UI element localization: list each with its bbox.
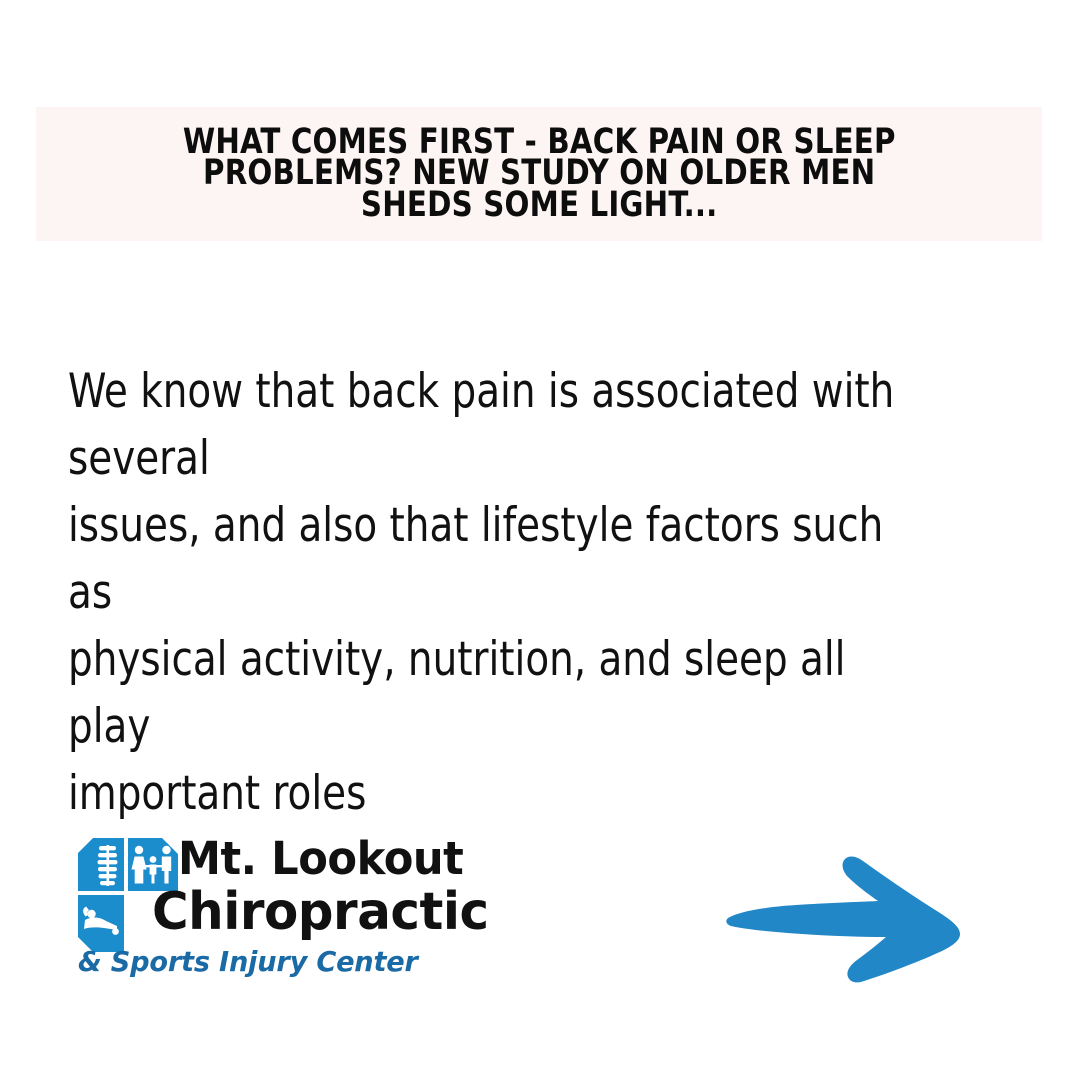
brand-logo: Mt. Lookout Chiropractic & Sports Injury…	[76, 836, 421, 984]
right-arrow-icon	[718, 850, 978, 985]
logo-tagline: & Sports Injury Center	[78, 946, 418, 978]
body-paragraph: We know that back pain is associated wit…	[68, 358, 914, 827]
logo-line-two: Chiropractic	[152, 884, 413, 940]
logo-wordmark: Mt. Lookout Chiropractic	[178, 834, 424, 940]
spine-panel	[78, 838, 124, 891]
title-banner: WHAT COMES FIRST - BACK PAIN OR SLEEP PR…	[36, 107, 1042, 241]
page-title: WHAT COMES FIRST - BACK PAIN OR SLEEP PR…	[183, 127, 896, 222]
post-canvas: WHAT COMES FIRST - BACK PAIN OR SLEEP PR…	[0, 0, 1080, 1080]
swimmer-panel	[78, 895, 124, 952]
logo-line-one: Mt. Lookout	[178, 834, 414, 884]
